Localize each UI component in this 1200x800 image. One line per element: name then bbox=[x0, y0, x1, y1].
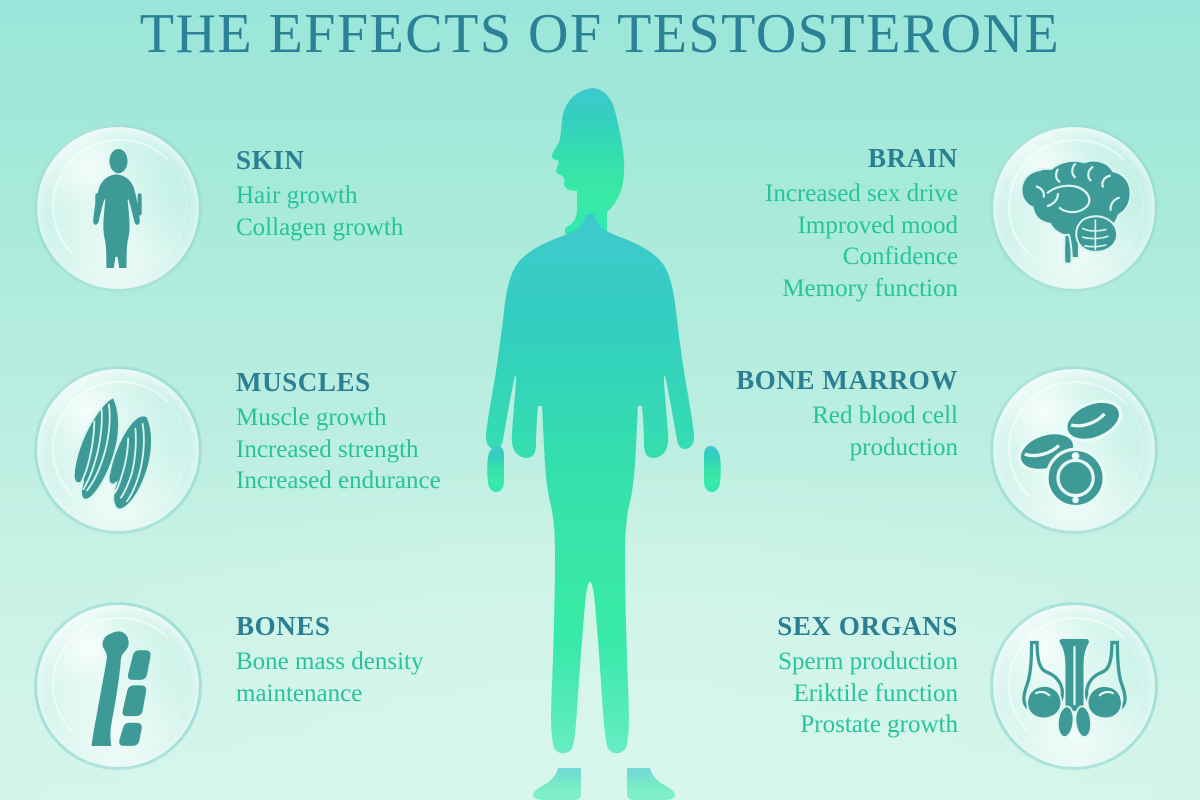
section-heading: BRAIN bbox=[765, 144, 958, 172]
title-text: THE EFFECTS OF TESTOSTERONE bbox=[140, 2, 1061, 66]
section-bone-marrow: BONE MARROW Red blood cell production bbox=[736, 366, 958, 463]
section-muscles: MUSCLES Muscle growth Increased strength… bbox=[236, 368, 441, 497]
section-heading: SEX ORGANS bbox=[777, 612, 958, 640]
infographic-poster: THE EFFECTS OF TESTOSTERONE bbox=[0, 0, 1200, 800]
human-body-icon bbox=[58, 148, 179, 269]
section-line: Hair growth bbox=[236, 180, 403, 212]
section-skin: SKIN Hair growth Collagen growth bbox=[236, 146, 403, 243]
section-line: Increased endurance bbox=[236, 465, 441, 497]
section-line: Sperm production bbox=[777, 646, 958, 678]
section-heading: SKIN bbox=[236, 146, 403, 174]
section-line: Confidence bbox=[765, 241, 958, 273]
muscle-fibers-icon bbox=[58, 390, 179, 511]
section-line: Muscle growth bbox=[236, 402, 441, 434]
bones-icon bbox=[58, 626, 179, 747]
poster-title: THE EFFECTS OF TESTOSTERONE bbox=[0, 0, 1200, 68]
red-blood-cells-icon bbox=[1014, 390, 1135, 511]
section-bones: BONES Bone mass density maintenance bbox=[236, 612, 424, 709]
section-heading: BONE MARROW bbox=[736, 366, 958, 394]
section-brain: BRAIN Increased sex drive Improved mood … bbox=[765, 144, 958, 304]
male-body-silhouette bbox=[474, 78, 734, 800]
bubble-muscles bbox=[34, 366, 202, 534]
brain-icon bbox=[1014, 148, 1135, 269]
bubble-bone-marrow bbox=[990, 366, 1158, 534]
section-heading: BONES bbox=[236, 612, 424, 640]
section-line: Increased strength bbox=[236, 434, 441, 466]
section-line: Improved mood bbox=[765, 210, 958, 242]
bubble-sex-organs bbox=[990, 602, 1158, 770]
bubble-skin bbox=[34, 124, 202, 292]
section-line: Memory function bbox=[765, 273, 958, 305]
section-sex-organs: SEX ORGANS Sperm production Eriktile fun… bbox=[777, 612, 958, 741]
section-line: Increased sex drive bbox=[765, 178, 958, 210]
bubble-brain bbox=[990, 124, 1158, 292]
male-reproductive-organs-icon bbox=[1014, 626, 1135, 747]
section-line: Eriktile function bbox=[777, 678, 958, 710]
section-line: production bbox=[736, 432, 958, 464]
bubble-bones bbox=[34, 602, 202, 770]
section-line: Red blood cell bbox=[736, 400, 958, 432]
section-line: maintenance bbox=[236, 678, 424, 710]
section-line: Bone mass density bbox=[236, 646, 424, 678]
section-line: Prostate growth bbox=[777, 709, 958, 741]
section-line: Collagen growth bbox=[236, 212, 403, 244]
section-heading: MUSCLES bbox=[236, 368, 441, 396]
